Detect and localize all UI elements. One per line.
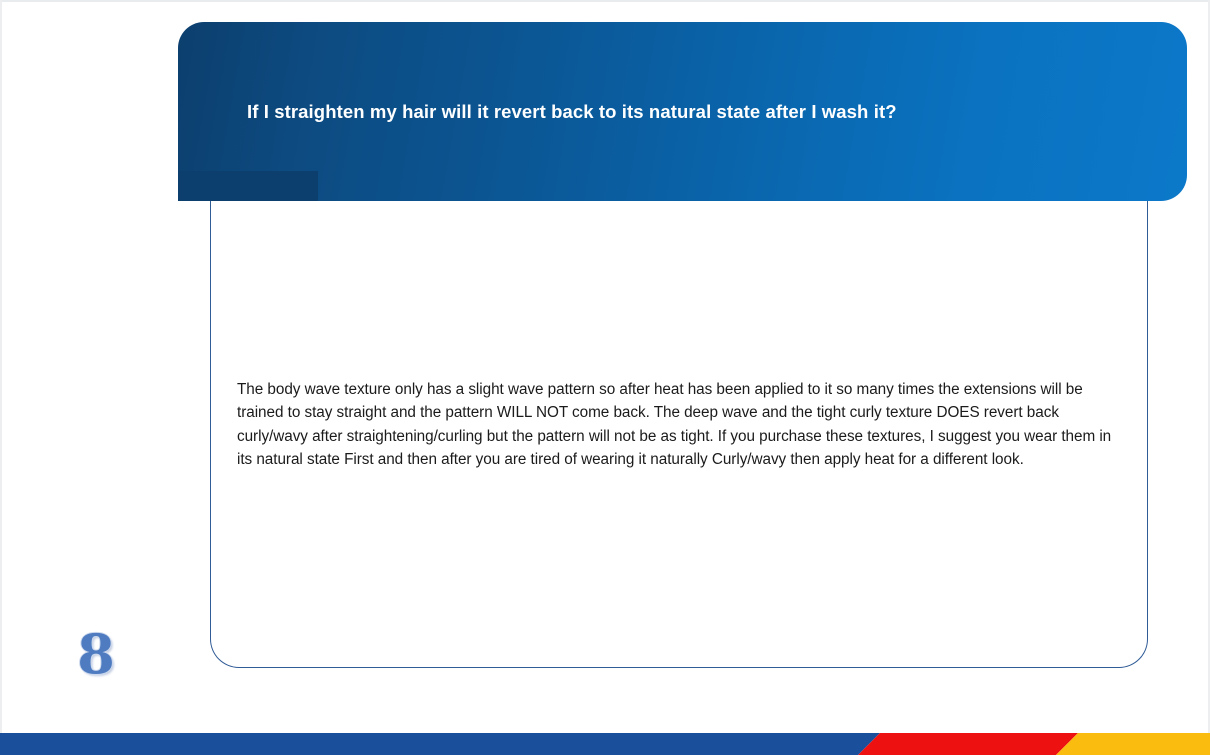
slide-title: If I straighten my hair will it revert b…	[247, 99, 1107, 125]
slide-frame-left-edge	[0, 0, 2, 733]
slide-frame-top-edge	[0, 0, 1210, 2]
page-number: 8	[72, 623, 120, 685]
footer-segment-yellow	[1056, 733, 1210, 755]
footer-accent-bar	[0, 733, 1210, 755]
slide-canvas: If I straighten my hair will it revert b…	[0, 0, 1210, 755]
body-paragraph: The body wave texture only has a slight …	[237, 378, 1125, 472]
footer-segment-red	[858, 733, 1078, 755]
footer-segment-blue	[0, 733, 880, 755]
